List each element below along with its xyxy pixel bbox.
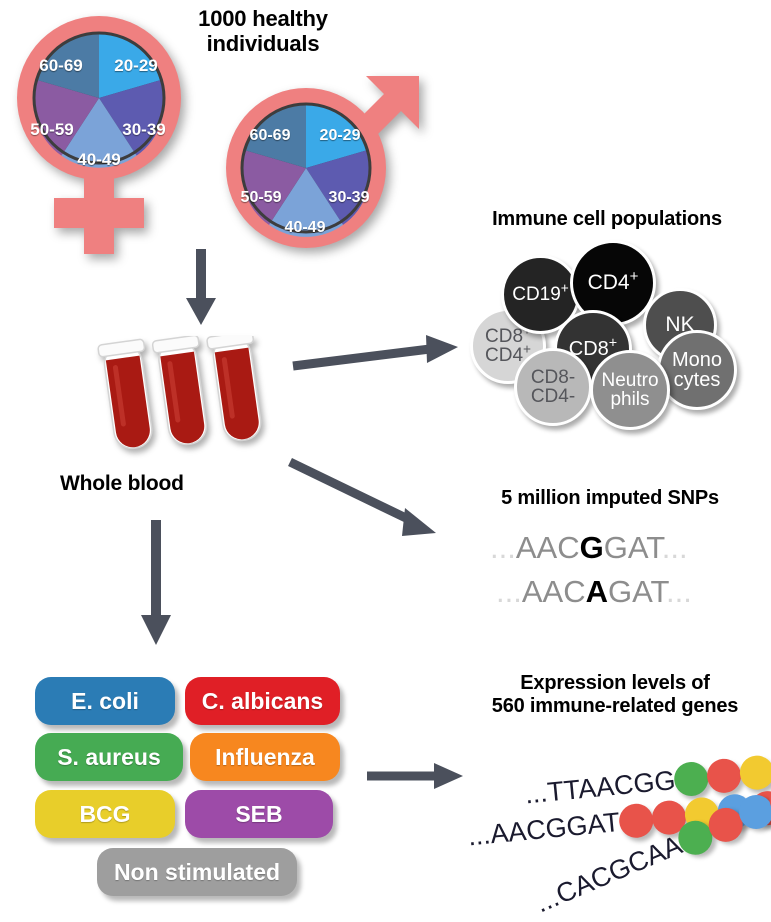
expression-bead [738,754,771,791]
expression-bead [706,757,743,794]
expression-sequence-text: ...AACGGAT [467,807,622,851]
expression-bead [617,802,654,839]
expression-sequence-block: ...TTAACGG ...AACGGAT ...CACGCAA [0,0,771,922]
figure-canvas: 1000 healthy individuals Immune cell pop… [0,0,771,922]
expression-bead [673,760,710,797]
